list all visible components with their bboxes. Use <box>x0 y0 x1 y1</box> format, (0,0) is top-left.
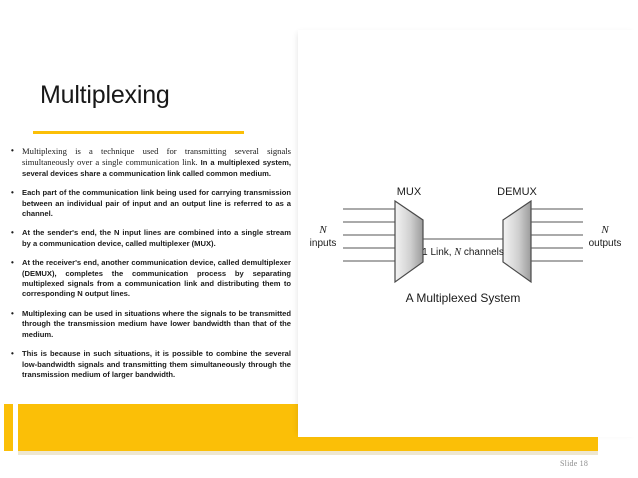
bullet-marker: • <box>11 228 14 238</box>
bullet-marker: • <box>11 188 14 198</box>
list-item: • At the sender's end, the N input lines… <box>6 228 291 249</box>
demux-label: DEMUX <box>497 186 537 198</box>
demux-shape <box>503 201 531 282</box>
bullet-marker: • <box>11 349 14 359</box>
list-item-text: At the sender's end, the N input lines a… <box>22 228 291 247</box>
title-underline <box>33 131 244 134</box>
mux-label: MUX <box>397 186 422 198</box>
list-item: • This is because in such situations, it… <box>6 349 291 380</box>
inputs-label-n: N <box>318 224 327 236</box>
list-item-text: At the receiver's end, another communica… <box>22 258 291 298</box>
diagram-caption: A Multiplexed System <box>406 291 521 305</box>
link-label-suffix: channels <box>461 247 504 258</box>
bullet-marker: • <box>11 309 14 319</box>
accent-band-tab <box>4 404 13 451</box>
mux-shape <box>395 201 423 282</box>
list-item-text: Multiplexing can be used in situations w… <box>22 309 291 339</box>
multiplexing-diagram: MUX DEMUX N inputs N outputs 1 Link, N c… <box>300 176 636 316</box>
link-label: 1 Link, N channels <box>422 247 504 258</box>
outputs-label: outputs <box>589 238 622 249</box>
outputs-label-n: N <box>600 224 609 236</box>
list-item: • At the receiver's end, another communi… <box>6 258 291 300</box>
input-lines <box>343 209 395 261</box>
list-item: • Multiplexing can be used in situations… <box>6 309 291 340</box>
bullet-marker: • <box>11 146 14 156</box>
list-item: • Each part of the communication link be… <box>6 188 291 219</box>
list-item-text: This is because in such situations, it i… <box>22 349 291 379</box>
bullet-marker: • <box>11 258 14 268</box>
list-item: • Multiplexing is a technique used for t… <box>6 146 291 179</box>
slide-canvas: Multiplexing • Multiplexing is a techniq… <box>0 0 638 478</box>
output-lines <box>531 209 583 261</box>
bullet-list: • Multiplexing is a technique used for t… <box>6 146 291 389</box>
inputs-label: inputs <box>310 238 337 249</box>
page-title: Multiplexing <box>40 82 170 110</box>
link-label-prefix: 1 Link, <box>422 247 454 258</box>
list-item-text: Each part of the communication link bein… <box>22 188 291 218</box>
slide-number: Slide 18 <box>560 459 588 468</box>
